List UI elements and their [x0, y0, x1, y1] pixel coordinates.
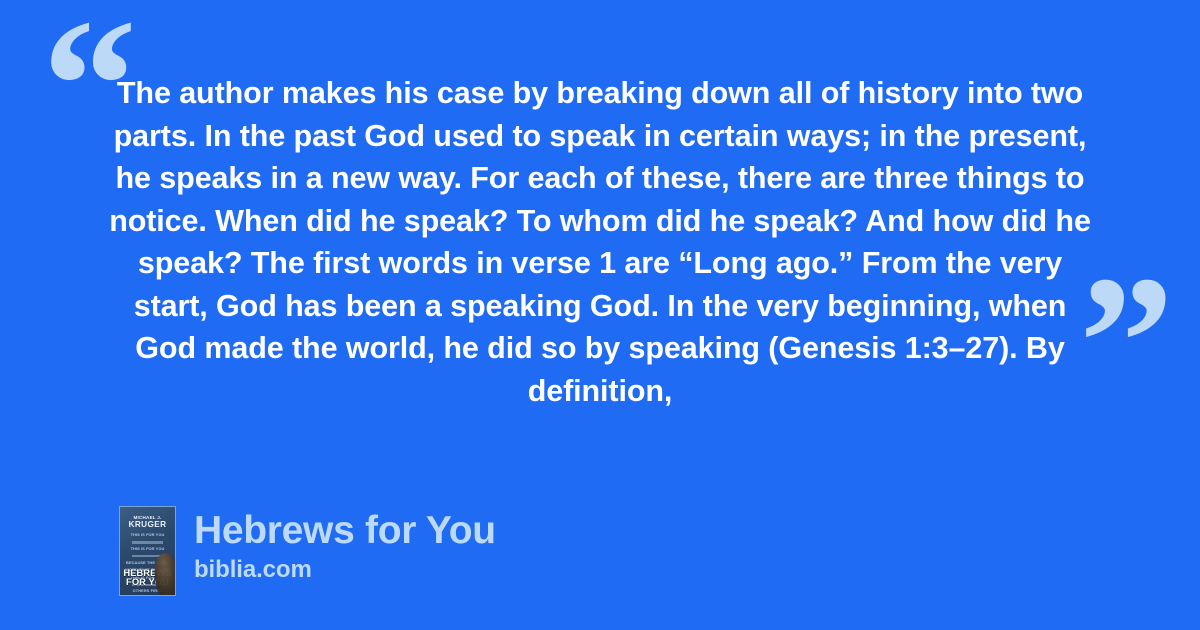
footer-text-block: Hebrews for You biblia.com — [194, 506, 496, 585]
footer: MICHAEL J. KRUGER THIS IS FOR YOU THIS I… — [119, 506, 496, 596]
book-cover-sub-line: THIS IS FOR YOU — [125, 547, 170, 551]
book-cover-author-last: KRUGER — [120, 521, 175, 530]
quote-text: The author makes his case by breaking do… — [100, 72, 1100, 412]
book-cover-thumbnail: MICHAEL J. KRUGER THIS IS FOR YOU THIS I… — [119, 506, 176, 596]
book-title: Hebrews for You — [194, 510, 496, 552]
book-cover-rule — [132, 541, 164, 543]
quote-card: “ The author makes his case by breaking … — [0, 0, 1200, 630]
source-site: biblia.com — [194, 555, 496, 585]
close-quote-icon: ” — [1079, 248, 1170, 438]
book-cover-sub-line: THIS IS FOR YOU — [125, 533, 170, 537]
